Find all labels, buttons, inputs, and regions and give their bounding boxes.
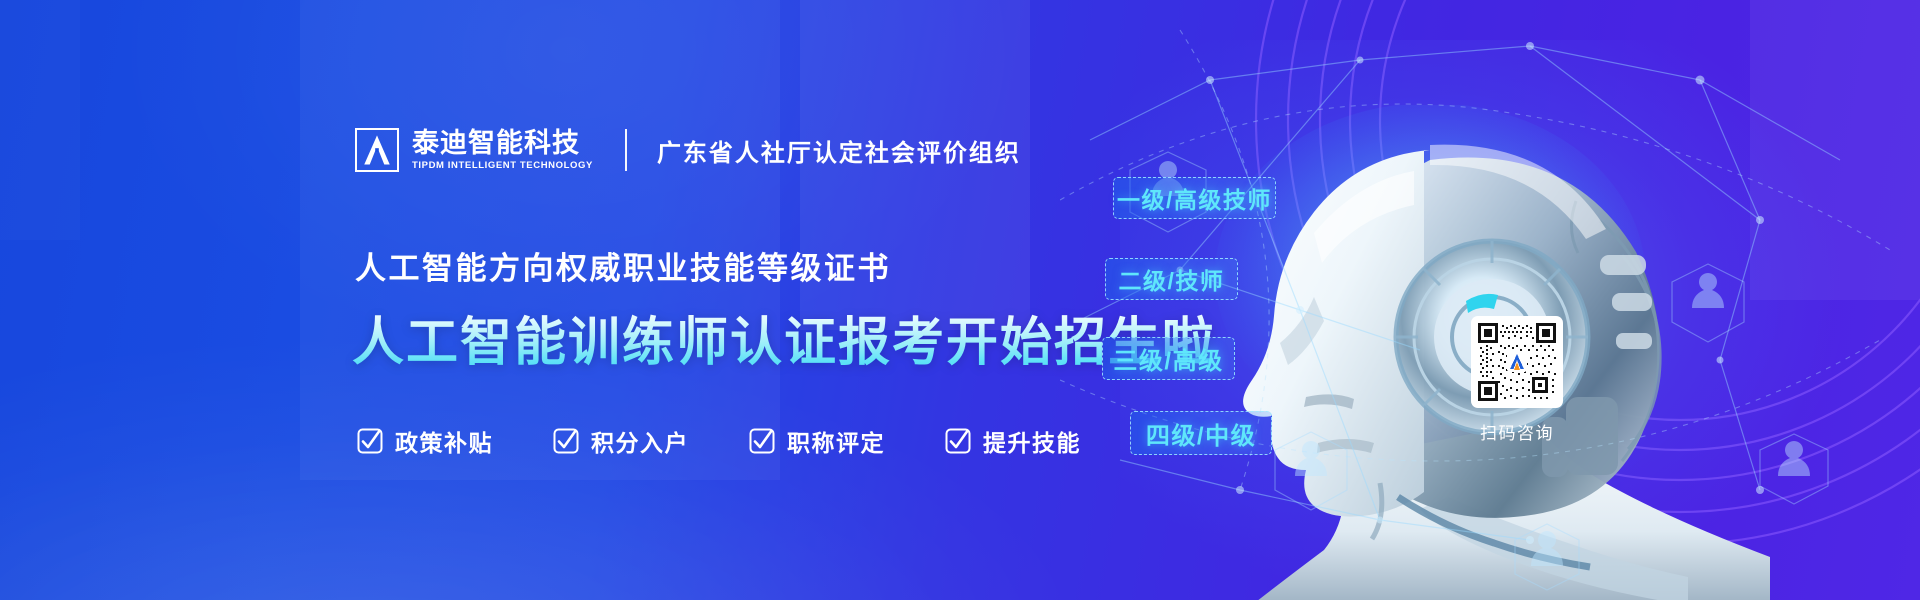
tipdm-pyramid-logo-icon	[355, 128, 399, 172]
header-divider	[625, 129, 627, 171]
level-badge-1: 一级/高级技师	[1113, 177, 1276, 219]
brand-header: 泰迪智能科技 TIPDM INTELLIGENT TECHNOLOGY 广东省人…	[355, 128, 1021, 172]
feature-label: 政策补贴	[395, 424, 493, 458]
feature-item: 职称评定	[749, 424, 885, 458]
feature-label: 职称评定	[787, 424, 885, 458]
checkbox-checked-icon	[749, 428, 775, 454]
qr-code-icon[interactable]	[1471, 316, 1563, 408]
checkbox-checked-icon	[357, 428, 383, 454]
promo-banner: 泰迪智能科技 TIPDM INTELLIGENT TECHNOLOGY 广东省人…	[0, 0, 1920, 600]
hero-headline: 人工智能训练师认证报考开始招生啦	[352, 300, 1216, 375]
level-badge-2: 二级/技师	[1105, 258, 1238, 300]
feature-item: 提升技能	[945, 424, 1081, 458]
qr-caption: 扫码咨询	[1471, 419, 1563, 444]
level-badge-4: 四级/中级	[1130, 411, 1272, 455]
level-badge-3: 三级/高级	[1102, 337, 1235, 380]
checkbox-checked-icon	[553, 428, 579, 454]
hero-subtitle: 人工智能方向权威职业技能等级证书	[355, 243, 891, 288]
feature-list: 政策补贴 积分入户 职称评定	[357, 424, 1141, 458]
brand-name-en: TIPDM INTELLIGENT TECHNOLOGY	[412, 160, 593, 171]
checkbox-checked-icon	[945, 428, 971, 454]
brand-name-cn: 泰迪智能科技	[412, 129, 593, 157]
org-endorsement: 广东省人社厅认定社会评价组织	[657, 133, 1021, 168]
feature-item: 积分入户	[553, 424, 689, 458]
qr-section: 扫码咨询	[1471, 316, 1563, 444]
feature-item: 政策补贴	[357, 424, 493, 458]
feature-label: 提升技能	[983, 424, 1081, 458]
feature-label: 积分入户	[591, 424, 689, 458]
